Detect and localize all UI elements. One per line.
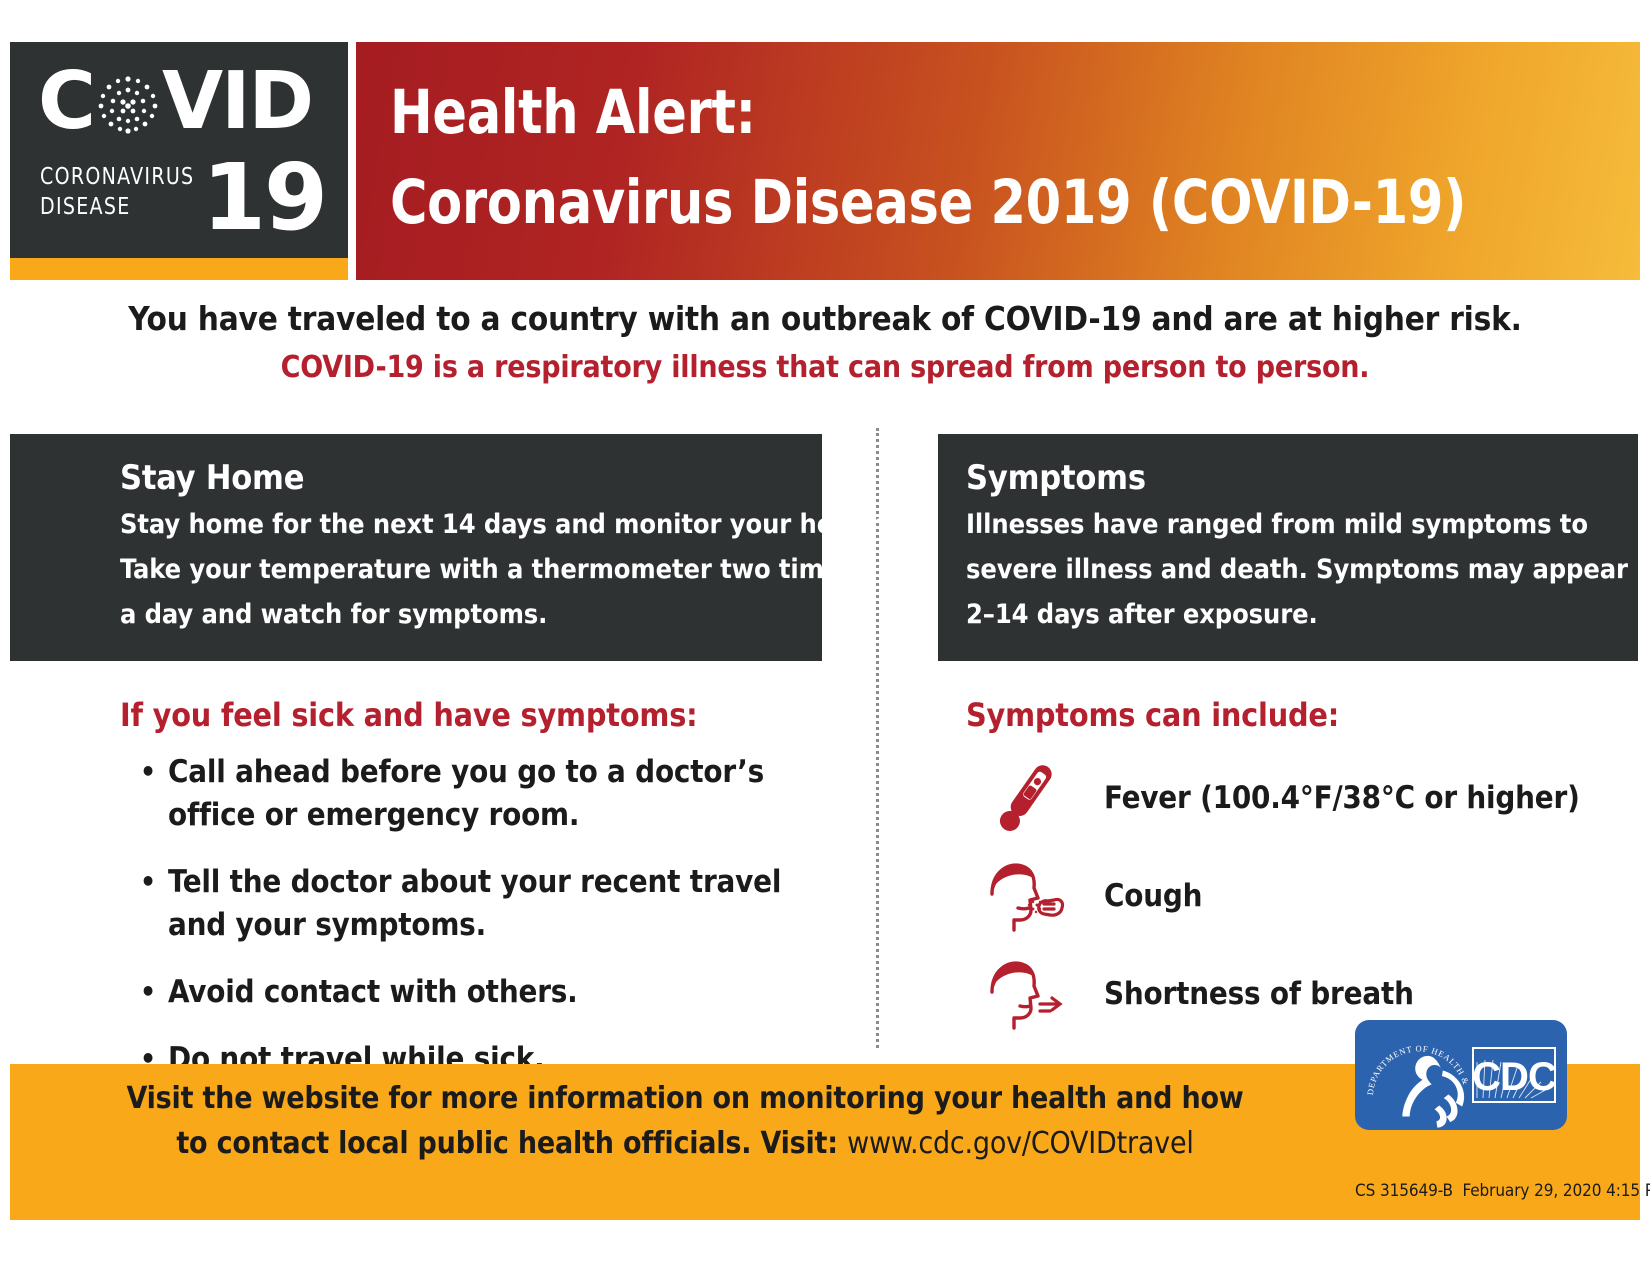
stay-home-body-line-2: Take your temperature with a thermometer… [120, 547, 794, 592]
subtitle-secondary: COVID-19 is a respiratory illness that c… [0, 348, 1650, 388]
footer-line-1: Visit the website for more information o… [120, 1076, 1250, 1121]
publication-date: February 29, 2020 4:15 PM [1462, 1181, 1650, 1201]
banner-line-1: Health Alert: [390, 68, 1553, 158]
symptom-label: Cough [1104, 876, 1202, 916]
list-item: Tell the doctor about your recent travel… [138, 861, 822, 947]
symptoms-body-line-2: severe illness and death. Symptoms may a… [966, 547, 1610, 592]
cdc-hhs-logo: DEPARTMENT OF HEALTH & HUMAN SERVICES·US… [1355, 1020, 1567, 1130]
sick-instructions-list: Call ahead before you go to a doctor’s o… [10, 751, 822, 1081]
if-you-feel-sick-heading: If you feel sick and have symptoms: [120, 695, 822, 735]
stay-home-panel: Stay Home Stay home for the next 14 days… [10, 434, 822, 661]
left-column: Stay Home Stay home for the next 14 days… [10, 434, 822, 1105]
covid-letters-vid: VID [162, 62, 312, 141]
list-item: Call ahead before you go to a doctor’s o… [138, 751, 822, 837]
symptoms-body-line-1: Illnesses have ranged from mild symptoms… [966, 502, 1610, 547]
right-column: Symptoms Illnesses have ranged from mild… [938, 434, 1638, 1043]
footer-line-2-bold: to contact local public health officials… [176, 1126, 838, 1161]
health-alert-banner: Health Alert: Coronavirus Disease 2019 (… [356, 42, 1640, 280]
footer-text: Visit the website for more information o… [120, 1076, 1250, 1166]
stay-home-title: Stay Home [120, 456, 794, 500]
shortness-of-breath-icon [966, 946, 1086, 1042]
banner-line-2: Coronavirus Disease 2019 (COVID-19) [390, 158, 1553, 248]
symptom-label: Fever (100.4°F/38°C or higher) [1104, 778, 1580, 818]
symptoms-list: Fever (100.4°F/38°C or higher) [938, 749, 1638, 1043]
subtitle-primary: You have traveled to a country with an o… [0, 298, 1650, 340]
logo-yellow-underbar [10, 258, 348, 280]
symptoms-title: Symptoms [966, 456, 1610, 500]
svg-text:CDC: CDC [1472, 1055, 1556, 1099]
cs-number: CS 315649-B [1355, 1181, 1453, 1201]
logo-sub-line2: DISEASE [40, 192, 194, 222]
virus-dots-icon [95, 71, 161, 137]
header: C [0, 0, 1650, 290]
covid-wordmark: C [38, 62, 312, 141]
logo-sub-line1: CORONAVIRUS [40, 162, 194, 192]
logo-year-19: 19 [202, 152, 326, 244]
hhs-seal-and-cdc-wordmark: DEPARTMENT OF HEALTH & HUMAN SERVICES·US… [1355, 1020, 1567, 1130]
symptoms-body-line-3: 2–14 days after exposure. [966, 592, 1610, 637]
list-item: Avoid contact with others. [138, 971, 822, 1014]
coughing-person-icon [966, 848, 1086, 944]
cdc-travel-url[interactable]: www.cdc.gov/COVIDtravel [847, 1126, 1194, 1161]
list-item: Fever (100.4°F/38°C or higher) [966, 749, 1638, 847]
symptoms-panel: Symptoms Illnesses have ranged from mild… [938, 434, 1638, 661]
stay-home-body-line-3: a day and watch for symptoms. [120, 592, 794, 637]
cs-publication-line: CS 315649-B February 29, 2020 4:15 PM [1355, 1180, 1595, 1202]
footer-line-2: to contact local public health officials… [120, 1121, 1250, 1166]
svg-text:DEPARTMENT OF HEALTH & HUMAN S: DEPARTMENT OF HEALTH & HUMAN SERVICES·US… [1355, 1020, 1471, 1096]
covid-letter-c: C [38, 62, 94, 141]
thermometer-icon [966, 750, 1086, 846]
coronavirus-disease-label: CORONAVIRUS DISEASE [40, 162, 194, 222]
symptom-label: Shortness of breath [1104, 974, 1414, 1014]
stay-home-body-line-1: Stay home for the next 14 days and monit… [120, 502, 794, 547]
covid19-logo-block: C [10, 42, 348, 272]
list-item: Cough [966, 847, 1638, 945]
symptoms-can-include-heading: Symptoms can include: [966, 695, 1638, 735]
